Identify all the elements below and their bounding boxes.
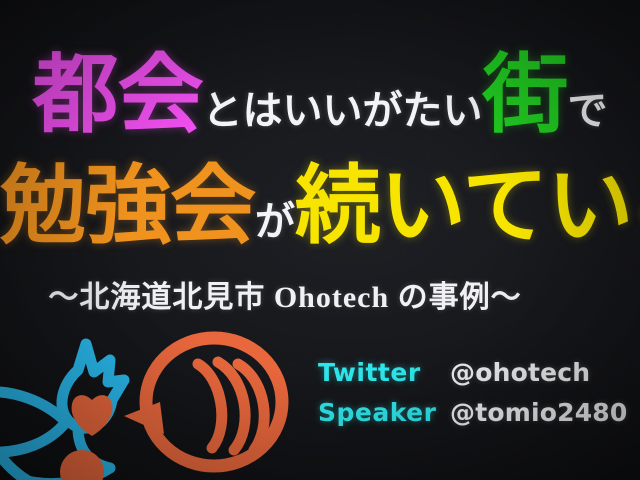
speech-bubble-icon [124, 338, 282, 466]
credit-row-speaker: Speaker @tomio2480 [318, 398, 628, 438]
credit-row-twitter: Twitter @ohotech [318, 358, 628, 398]
speaker-label: Speaker [318, 398, 450, 427]
headline-1-seg-3: で [568, 88, 608, 133]
headline-1-seg-1: とはいいがたい [203, 88, 483, 133]
bird-icon [0, 344, 124, 480]
headline-1-seg-2: 街 [483, 47, 568, 143]
ohotech-logo [0, 330, 292, 480]
headline-2-seg-1: が [255, 199, 295, 244]
headline-line-2: 勉強会が続いている理由 [0, 163, 640, 249]
headline-line-1: 都会とはいいがたい街で [0, 52, 640, 138]
headline-2-seg-2: 続いている [295, 158, 640, 254]
credits-block: Twitter @ohotech Speaker @tomio2480 [318, 358, 628, 438]
headline-1-seg-0: 都会 [33, 47, 203, 143]
slide-root: 都会とはいいがたい街で 勉強会が続いている理由 〜北海道北見市 Ohotech … [0, 0, 640, 480]
speaker-handle: @tomio2480 [450, 398, 628, 427]
twitter-label: Twitter [318, 358, 450, 387]
headline-2-seg-0: 勉強会 [0, 158, 255, 254]
subtitle: 〜北海道北見市 Ohotech の事例〜 [0, 272, 570, 316]
twitter-handle: @ohotech [450, 358, 590, 387]
